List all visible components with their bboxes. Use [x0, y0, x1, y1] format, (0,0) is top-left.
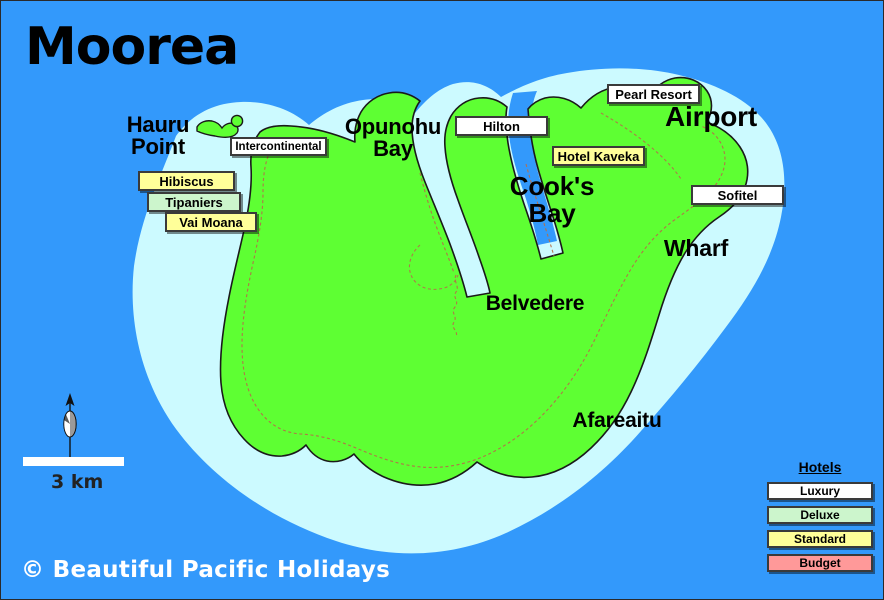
legend-item-deluxe[interactable]: Deluxe	[767, 506, 873, 524]
map-canvas	[1, 1, 884, 600]
hotel-label-pearl-resort[interactable]: Pearl Resort	[607, 84, 700, 104]
legend-item-luxury[interactable]: Luxury	[767, 482, 873, 500]
copyright-notice: © Beautiful Pacific Holidays	[21, 557, 390, 583]
motu-islet-small	[231, 115, 242, 126]
hotel-label-sofitel[interactable]: Sofitel	[691, 185, 784, 205]
north-arrow-icon	[57, 393, 83, 465]
scale-bar-line	[23, 457, 124, 466]
legend-item-budget[interactable]: Budget	[767, 554, 873, 572]
hotel-label-intercontinental[interactable]: Intercontinental	[230, 137, 327, 156]
hotel-label-tipaniers[interactable]: Tipaniers	[147, 192, 241, 212]
legend-item-standard[interactable]: Standard	[767, 530, 873, 548]
hotel-label-vai-moana[interactable]: Vai Moana	[165, 212, 257, 232]
hotel-label-hotel-kaveka[interactable]: Hotel Kaveka	[552, 146, 645, 166]
hotel-label-hibiscus[interactable]: Hibiscus	[138, 171, 235, 191]
page-title: Moorea	[25, 17, 238, 77]
legend-items: LuxuryDeluxeStandardBudget	[767, 482, 873, 572]
scale-label: 3 km	[51, 471, 103, 493]
legend: Hotels LuxuryDeluxeStandardBudget	[767, 459, 873, 578]
legend-title: Hotels	[767, 459, 873, 475]
moorea-map: Moorea Hauru PointOpunohu BayCook's BayA…	[0, 0, 884, 600]
hotel-label-hilton[interactable]: Hilton	[455, 116, 548, 136]
